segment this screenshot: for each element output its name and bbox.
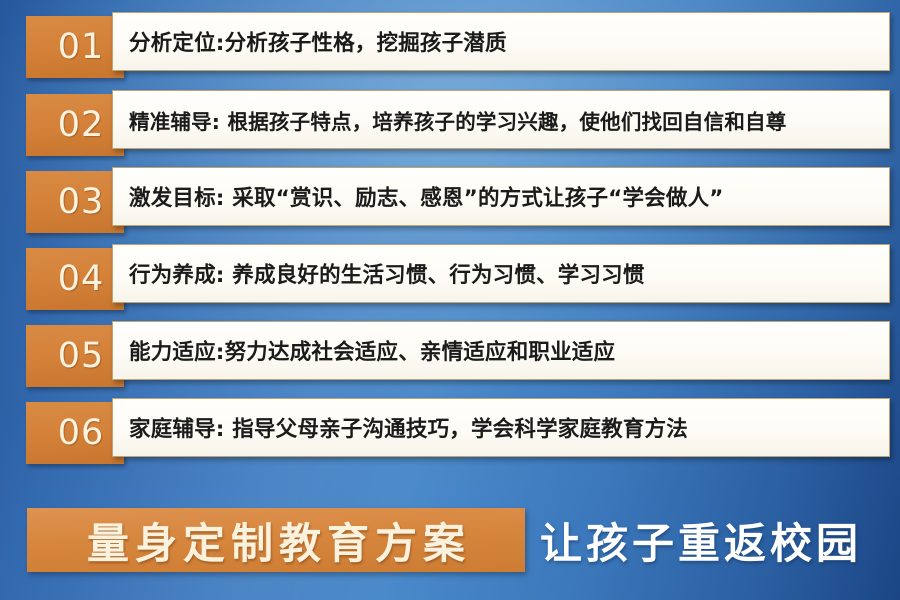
item-text: 精准辅导: 根据孩子特点，培养孩子的学习兴趣，使他们找回自信和自尊 <box>113 105 794 135</box>
item-card: 家庭辅导: 指导父母亲子沟通技巧，学会科学家庭教育方法 <box>112 398 890 457</box>
item-text: 激发目标: 采取“赏识、励志、感恩”的方式让孩子“学会做人” <box>113 181 732 212</box>
item-card: 能力适应:努力达成社会适应、亲情适应和职业适应 <box>112 321 890 380</box>
item-text: 分析定位:分析孩子性格，挖掘孩子潜质 <box>113 26 515 57</box>
item-text: 能力适应:努力达成社会适应、亲情适应和职业适应 <box>113 335 623 366</box>
item-number-label: 02 <box>46 108 105 143</box>
footer-tagline: 让孩子重返校园 <box>540 508 862 572</box>
item-number-tab: 01 <box>26 16 124 78</box>
footer-banner: 量身定制教育方案 让孩子重返校园 <box>0 500 900 584</box>
footer-tagline-text: 让孩子重返校园 <box>540 510 862 571</box>
footer-highlight-box: 量身定制教育方案 <box>27 508 525 572</box>
item-number-tab: 02 <box>26 94 124 156</box>
item-card: 激发目标: 采取“赏识、励志、感恩”的方式让孩子“学会做人” <box>112 167 890 226</box>
item-text: 行为养成: 养成良好的生活习惯、行为习惯、学习习惯 <box>113 258 653 289</box>
item-text: 家庭辅导: 指导父母亲子沟通技巧，学会科学家庭教育方法 <box>113 412 696 443</box>
poster-root: 01 分析定位:分析孩子性格，挖掘孩子潜质 02 精准辅导: 根据孩子特点，培养… <box>0 0 900 600</box>
item-number-label: 03 <box>46 185 105 220</box>
item-number-label: 06 <box>46 416 105 451</box>
footer-highlight-text: 量身定制教育方案 <box>81 510 471 571</box>
item-number-label: 01 <box>46 30 105 65</box>
item-number-label: 04 <box>46 262 105 297</box>
item-number-label: 05 <box>46 339 105 374</box>
item-number-tab: 05 <box>26 325 124 387</box>
item-number-tab: 04 <box>26 248 124 310</box>
item-card: 行为养成: 养成良好的生活习惯、行为习惯、学习习惯 <box>112 244 890 303</box>
item-card: 精准辅导: 根据孩子特点，培养孩子的学习兴趣，使他们找回自信和自尊 <box>112 90 890 149</box>
item-number-tab: 03 <box>26 171 124 233</box>
item-number-tab: 06 <box>26 402 124 464</box>
item-card: 分析定位:分析孩子性格，挖掘孩子潜质 <box>112 12 890 71</box>
